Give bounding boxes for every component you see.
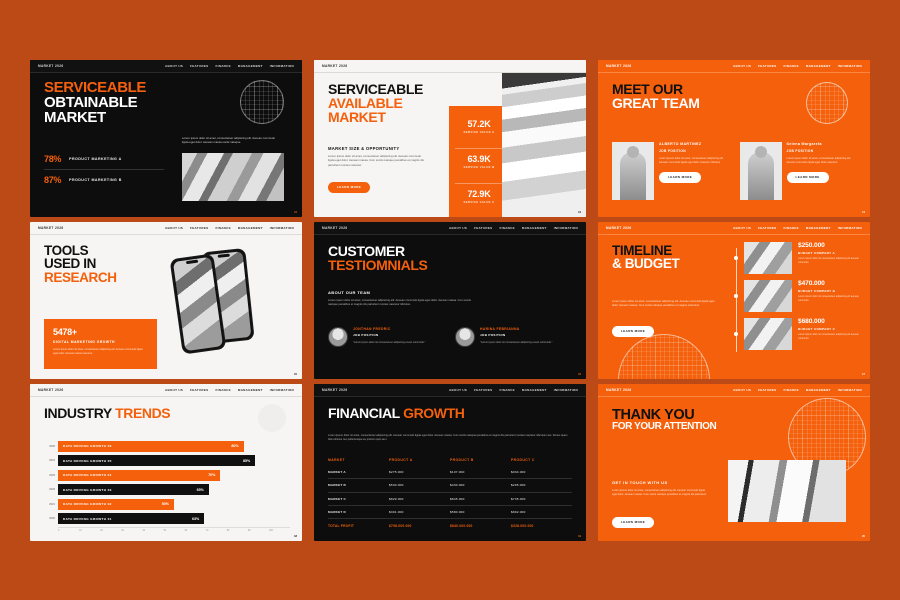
slide-4-title: TOOLS USED IN RESEARCH: [44, 244, 117, 285]
chart-y-label: 2020: [44, 517, 58, 520]
table-cell: $275.000: [389, 470, 450, 474]
budget-desc: Lorem ipsum dolor sit consectetuer adipi…: [798, 295, 864, 303]
table-cell: $430.000: [450, 483, 511, 487]
table-row: MARKET D$301.000$580.000$802.000: [328, 506, 572, 519]
slide-5-subtitle: ABOUT OUR TEAM: [328, 290, 370, 295]
nav-brand: MARKET 2026: [322, 64, 347, 68]
slide-2-navbar: MARKET 2026: [314, 60, 586, 73]
stat-value: 78%: [44, 154, 61, 164]
page-number: 15: [294, 373, 297, 376]
slide-3-title-line1: MEET OUR: [612, 82, 700, 96]
nav-link-features[interactable]: FEATURES: [758, 64, 776, 68]
team-member-card: ALBERTO MARTINEZ JOB POSITION Lorem ipsu…: [612, 142, 733, 200]
slide-7-industry-trends[interactable]: MARKET 2026 ABOUT US FEATURES FINANCE MA…: [30, 384, 302, 541]
globe-icon: [240, 80, 284, 124]
slide-5-title: CUSTOMER TESTIOMNIALS: [328, 244, 427, 273]
nav-link-management[interactable]: MANAGEMENT: [238, 226, 263, 230]
budget-company: BUDGET COMPANY C: [798, 327, 864, 331]
stat-row: 78% PRODUCT MARKETING A: [44, 149, 164, 169]
table-cell: $802.000: [511, 510, 572, 514]
chart-bar-row: 2020DATA DRIVING GROWTH 0163%: [44, 512, 290, 525]
stat-item: 72.9K SERVICE VALUE C: [455, 183, 503, 204]
slide-5-title-line2: TESTIOMNIALS: [328, 258, 427, 272]
table-row: MARKET B$530.000$430.000$205.000: [328, 479, 572, 492]
slide-4-navbar: MARKET 2026 ABOUT US FEATURES FINANCE MA…: [30, 222, 302, 235]
chart-bar-row: 2021DATA DRIVING GROWTH 0250%: [44, 498, 290, 511]
member-job: JOB POSITION: [659, 149, 733, 153]
table-cell: MARKET B: [328, 483, 389, 487]
slide-4-title-line2: USED IN: [44, 257, 117, 271]
page-number: 17: [862, 373, 865, 376]
slide-7-title: INDUSTRY TRENDS: [44, 406, 170, 420]
nav-link-features[interactable]: FEATURES: [190, 64, 208, 68]
stat-label: SERVICE VALUE B: [455, 165, 503, 169]
nav-brand: MARKET 2026: [606, 64, 631, 68]
nav-link-features[interactable]: FEATURES: [758, 226, 776, 230]
chart-bar-value: 85%: [243, 459, 250, 463]
slide-2-title-line1: SERVICEABLE: [328, 82, 423, 96]
slide-2-building-image: [502, 73, 586, 217]
slide-7-title-part2: TRENDS: [115, 405, 170, 421]
slide-6-title: TIMELINE & BUDGET: [612, 244, 679, 272]
nav-link-management[interactable]: MANAGEMENT: [806, 388, 831, 392]
nav-link-information[interactable]: INFORMATION: [838, 226, 862, 230]
nav-link-finance[interactable]: FINANCE: [783, 64, 798, 68]
nav-links: ABOUT US FEATURES FINANCE MANAGEMENT INF…: [165, 64, 294, 68]
page-number: 13: [578, 211, 581, 214]
slide-6-navbar: MARKET 2026 ABOUT US FEATURES FINANCE MA…: [598, 222, 870, 235]
chart-bar-track: DATA DRIVING GROWTH 0585%: [58, 455, 290, 466]
industry-trends-bar-chart: 2026DATA DRIVING GROWTH 0680%2024DATA DR…: [44, 440, 290, 525]
nav-link-finance[interactable]: FINANCE: [499, 388, 514, 392]
nav-link-information[interactable]: INFORMATION: [270, 64, 294, 68]
chart-bar-label: DATA DRIVING GROWTH 03: [63, 488, 112, 492]
nav-link-finance[interactable]: FINANCE: [215, 388, 230, 392]
table-cell: $845.000: [450, 497, 511, 501]
timeline-item: $470.000 BUDGET COMPANY B Lorem ipsum do…: [736, 280, 864, 312]
chart-x-tick: 100: [269, 529, 290, 532]
nav-link-about-us[interactable]: ABOUT US: [165, 226, 183, 230]
chart-x-tick: 80: [227, 529, 248, 532]
slide-3-title: MEET OUR GREAT TEAM: [612, 82, 700, 111]
chart-bar-row: 2024DATA DRIVING GROWTH 0585%: [44, 454, 290, 467]
nav-link-information[interactable]: INFORMATION: [838, 388, 862, 392]
nav-brand: MARKET 2026: [322, 388, 347, 392]
testimonial-card: HARINA FEBRIANNA JOB POSITION "Lorem ips…: [455, 327, 574, 347]
timeline-item: $680.000 BUDGET COMPANY C Lorem ipsum do…: [736, 318, 864, 350]
slide-9-image: [728, 460, 846, 522]
testimonial-card: JONTHAN FREDRIC JOB POSITION "Lorem ipsu…: [328, 327, 447, 347]
slide-8-title-part2: GROWTH: [403, 405, 464, 421]
slide-6-title-line2: & BUDGET: [612, 257, 679, 271]
chart-bar[interactable]: DATA DRIVING GROWTH 0680%: [58, 441, 244, 452]
avatar: [612, 142, 654, 200]
nav-link-management[interactable]: MANAGEMENT: [522, 388, 547, 392]
table-cell: $580.000: [450, 510, 511, 514]
slide-7-title-part1: INDUSTRY: [44, 405, 115, 421]
slide-6-title-line1: TIMELINE: [612, 244, 679, 258]
table-column-header: PRODUCT C: [511, 458, 572, 462]
nav-link-about-us[interactable]: ABOUT US: [733, 226, 751, 230]
nav-link-management[interactable]: MANAGEMENT: [238, 64, 263, 68]
timeline-item: $250.000 BUDGET COMPANY A Lorem ipsum do…: [736, 242, 864, 274]
stat-row: 87% PRODUCT MARKETING B: [44, 169, 164, 190]
slide-1-serviceable-obtainable-market[interactable]: MARKET 2026 ABOUT US FEATURES FINANCE MA…: [30, 60, 302, 217]
avatar: [740, 142, 782, 200]
slide-5-title-line1: CUSTOMER: [328, 244, 427, 258]
phone-notch: [218, 253, 230, 257]
member-name: JONTHAN FREDRIC: [353, 327, 426, 331]
slide-1-paragraph: Lorem ipsum dolor sit amet, consectetuer…: [182, 136, 282, 145]
table-cell: $735.000: [511, 497, 572, 501]
chart-y-label: 2022: [44, 488, 58, 491]
budget-company: BUDGET COMPANY B: [798, 289, 864, 293]
member-name: ALBERTO MARTINEZ: [659, 142, 733, 146]
slide-9-title-line1: THANK YOU: [612, 408, 716, 423]
page-number: 12: [294, 211, 297, 214]
learn-more-button[interactable]: LEARN MORE: [787, 172, 829, 183]
chart-y-label: 2024: [44, 459, 58, 462]
nav-link-information[interactable]: INFORMATION: [554, 388, 578, 392]
chart-bar[interactable]: DATA DRIVING GROWTH 0163%: [58, 513, 204, 524]
stat-value: 72.9K: [455, 189, 503, 199]
chart-bar-label: DATA DRIVING GROWTH 01: [63, 517, 112, 521]
table-cell: $829.000: [389, 497, 450, 501]
metric-label: DIGITAL MARKETING GROWTH: [53, 340, 148, 344]
nav-links: ABOUT US FEATURES FINANCE MANAGEMENT INF…: [165, 226, 294, 230]
chart-bar-value: 65%: [197, 488, 204, 492]
chart-x-tick: 30: [121, 529, 142, 532]
table-total-row: TOTAL PROFIT$798.000.000$840.000.000$328…: [328, 519, 572, 531]
budget-company: BUDGET COMPANY A: [798, 251, 864, 255]
chart-x-axis: 0102030405060708090100: [58, 527, 290, 532]
learn-more-button[interactable]: LEARN MORE: [659, 172, 701, 183]
nav-links: ABOUT US FEATURES FINANCE MANAGEMENT INF…: [449, 388, 578, 392]
nav-brand: MARKET 2026: [322, 226, 347, 230]
page-number: 14: [862, 211, 865, 214]
table-row: MARKET A$275.000$107.000$034.000: [328, 466, 572, 479]
timeline-dot: [734, 294, 738, 298]
table-total-cell: $798.000.000: [389, 524, 450, 528]
stat-item: 57.2K SERVICE VALUE A: [455, 119, 503, 134]
stat-label: PRODUCT MARKETING A: [69, 157, 122, 161]
nav-links: ABOUT US FEATURES FINANCE MANAGEMENT INF…: [449, 226, 578, 230]
nav-link-finance[interactable]: FINANCE: [783, 388, 798, 392]
chart-bar-label: DATA DRIVING GROWTH 05: [63, 459, 112, 463]
nav-brand: MARKET 2026: [38, 388, 63, 392]
nav-link-features[interactable]: FEATURES: [758, 388, 776, 392]
slide-6-timeline-and-budget[interactable]: MARKET 2026 ABOUT US FEATURES FINANCE MA…: [598, 222, 870, 379]
nav-link-information[interactable]: INFORMATION: [838, 64, 862, 68]
nav-link-features[interactable]: FEATURES: [474, 226, 492, 230]
chart-bar[interactable]: DATA DRIVING GROWTH 0250%: [58, 499, 174, 510]
nav-link-finance[interactable]: FINANCE: [499, 226, 514, 230]
stat-value: 57.2K: [455, 119, 503, 129]
table-cell: $205.000: [511, 483, 572, 487]
slide-6-paragraph: Lorem ipsum dolor sit amet, consectetuer…: [612, 300, 716, 309]
member-quote: "Lorem ipsum dolor sit consectetuer adip…: [353, 341, 426, 345]
metric-value: 5478+: [53, 327, 148, 337]
nav-link-about-us[interactable]: ABOUT US: [449, 388, 467, 392]
chart-x-tick: 40: [142, 529, 163, 532]
slide-5-customer-testimonials[interactable]: MARKET 2026 ABOUT US FEATURES FINANCE MA…: [314, 222, 586, 379]
slide-1-navbar: MARKET 2026 ABOUT US FEATURES FINANCE MA…: [30, 60, 302, 73]
chart-bar[interactable]: DATA DRIVING GROWTH 0470%: [58, 470, 220, 481]
budget-desc: Lorem ipsum dolor sit consectetuer adipi…: [798, 333, 864, 341]
member-job: JOB POSITION: [353, 333, 426, 337]
slide-9-navbar: MARKET 2026 ABOUT US FEATURES FINANCE MA…: [598, 384, 870, 397]
slide-8-navbar: MARKET 2026 ABOUT US FEATURES FINANCE MA…: [314, 384, 586, 397]
page-number: 16: [578, 373, 581, 376]
nav-link-management[interactable]: MANAGEMENT: [522, 226, 547, 230]
slide-grid: MARKET 2026 ABOUT US FEATURES FINANCE MA…: [0, 0, 900, 600]
nav-links: ABOUT US FEATURES FINANCE MANAGEMENT INF…: [733, 226, 862, 230]
nav-brand: MARKET 2026: [606, 388, 631, 392]
chart-y-label: 2026: [44, 445, 58, 448]
chart-x-tick: 70: [206, 529, 227, 532]
slide-2-stats-panel: 57.2K SERVICE VALUE A 63.9K SERVICE VALU…: [449, 106, 509, 217]
chart-bar-track: DATA DRIVING GROWTH 0365%: [58, 484, 290, 495]
chart-bar[interactable]: DATA DRIVING GROWTH 0585%: [58, 455, 255, 466]
member-desc: Lorem ipsum dolor sit amet, consectetuer…: [659, 157, 733, 166]
slide-8-financial-growth[interactable]: MARKET 2026 ABOUT US FEATURES FINANCE MA…: [314, 384, 586, 541]
stat-value: 63.9K: [455, 154, 503, 164]
avatar: [328, 327, 348, 347]
timeline-image: [744, 242, 792, 274]
slide-3-navbar: MARKET 2026 ABOUT US FEATURES FINANCE MA…: [598, 60, 870, 73]
member-desc: Lorem ipsum dolor sit amet, consectetuer…: [787, 157, 861, 166]
budget-amount: $470.000: [798, 280, 864, 287]
slide-9-paragraph: Lorem ipsum dolor sit amet, consectetuer…: [612, 489, 710, 498]
slide-9-subtitle: GET IN TOUCH WITH US: [612, 480, 668, 485]
nav-link-information[interactable]: INFORMATION: [270, 226, 294, 230]
slide-2-title-line3: MARKET: [328, 110, 423, 124]
slide-1-image: [182, 153, 284, 201]
table-cell: $301.000: [389, 510, 450, 514]
member-job: JOB POSITION: [480, 333, 553, 337]
slide-1-stats: 78% PRODUCT MARKETING A 87% PRODUCT MARK…: [44, 149, 164, 190]
slide-4-metric-box: 5478+ DIGITAL MARKETING GROWTH Lorem ips…: [44, 319, 157, 369]
slide-1-title-line2: OBTAINABLE: [44, 95, 146, 110]
timeline-image: [744, 280, 792, 312]
budget-amount: $680.000: [798, 318, 864, 325]
chart-bar-label: DATA DRIVING GROWTH 02: [63, 502, 112, 506]
table-cell: $107.000: [450, 470, 511, 474]
nav-link-management[interactable]: MANAGEMENT: [238, 388, 263, 392]
chart-x-tick: 0: [58, 529, 79, 532]
chart-bar[interactable]: DATA DRIVING GROWTH 0365%: [58, 484, 209, 495]
chart-bar-row: 2023DATA DRIVING GROWTH 0470%: [44, 469, 290, 482]
slide-9-title-line2: FOR YOUR ATTENTION: [612, 422, 716, 432]
table-row: MARKET C$829.000$845.000$735.000: [328, 493, 572, 506]
table-column-header: MARKET: [328, 458, 389, 462]
stat-item: 63.9K SERVICE VALUE B: [455, 148, 503, 169]
slide-9-title: THANK YOU FOR YOUR ATTENTION: [612, 408, 716, 433]
table-cell: MARKET D: [328, 510, 389, 514]
nav-brand: MARKET 2026: [38, 226, 63, 230]
chart-bar-value: 80%: [231, 444, 238, 448]
table-total-cell: $328.000.000: [511, 524, 572, 528]
slide-1-title-line3: MARKET: [44, 110, 146, 125]
chart-x-tick: 20: [100, 529, 121, 532]
timeline-dot: [734, 256, 738, 260]
chart-bars: 2026DATA DRIVING GROWTH 0680%2024DATA DR…: [44, 440, 290, 526]
slide-7-navbar: MARKET 2026 ABOUT US FEATURES FINANCE MA…: [30, 384, 302, 397]
slide-8-title-part1: FINANCIAL: [328, 405, 403, 421]
chart-x-tick: 90: [248, 529, 269, 532]
chart-y-label: 2021: [44, 503, 58, 506]
chart-bar-label: DATA DRIVING GROWTH 04: [63, 473, 112, 477]
slide-2-serviceable-available-market[interactable]: MARKET 2026 SERVICEABLE AVAILABLE MARKET…: [314, 60, 586, 217]
slide-3-title-line2: GREAT TEAM: [612, 96, 700, 110]
budget-amount: $250.000: [798, 242, 864, 249]
nav-link-finance[interactable]: FINANCE: [783, 226, 798, 230]
nav-link-about-us[interactable]: ABOUT US: [733, 64, 751, 68]
member-name: HARINA FEBRIANNA: [480, 327, 553, 331]
slide-8-paragraph: Lorem ipsum dolor sit amet, consectetuer…: [328, 434, 572, 443]
timeline-dot: [734, 332, 738, 336]
chart-bar-row: 2026DATA DRIVING GROWTH 0680%: [44, 440, 290, 453]
learn-more-button[interactable]: LEARN MORE: [612, 517, 654, 528]
nav-link-management[interactable]: MANAGEMENT: [806, 64, 831, 68]
chart-bar-track: DATA DRIVING GROWTH 0163%: [58, 513, 290, 524]
chart-x-tick: 50: [163, 529, 184, 532]
nav-brand: MARKET 2026: [606, 226, 631, 230]
team-member-card: Selena Margareta JOB POSITION Lorem ipsu…: [740, 142, 861, 200]
table-cell: MARKET C: [328, 497, 389, 501]
slide-5-paragraph: Lorem ipsum dolor sit amet, consectetuer…: [328, 299, 478, 308]
member-name: Selena Margareta: [787, 142, 861, 146]
chart-bar-value: 70%: [208, 473, 215, 477]
budget-desc: Lorem ipsum dolor sit consectetuer adipi…: [798, 257, 864, 265]
slide-4-title-line1: TOOLS: [44, 244, 117, 258]
nav-link-features[interactable]: FEATURES: [190, 226, 208, 230]
slide-2-subtitle: MARKET SIZE & OPPORTUNITY: [328, 146, 399, 151]
slide-4-tools-used-in-research[interactable]: MARKET 2026 ABOUT US FEATURES FINANCE MA…: [30, 222, 302, 379]
slide-5-testimonial-list: JONTHAN FREDRIC JOB POSITION "Lorem ipsu…: [328, 327, 574, 347]
nav-link-finance[interactable]: FINANCE: [215, 64, 230, 68]
slide-3-meet-our-great-team[interactable]: MARKET 2026 ABOUT US FEATURES FINANCE MA…: [598, 60, 870, 217]
slide-8-title: FINANCIAL GROWTH: [328, 406, 464, 420]
table-column-header: PRODUCT B: [450, 458, 511, 462]
slide-5-navbar: MARKET 2026 ABOUT US FEATURES FINANCE MA…: [314, 222, 586, 235]
chart-bar-row: 2022DATA DRIVING GROWTH 0365%: [44, 483, 290, 496]
page-number: 20: [862, 535, 865, 538]
member-quote: "Lorem ipsum dolor sit consectetuer adip…: [480, 341, 553, 345]
slide-2-title: SERVICEABLE AVAILABLE MARKET: [328, 82, 423, 125]
nav-links: ABOUT US FEATURES FINANCE MANAGEMENT INF…: [733, 388, 862, 392]
nav-link-about-us[interactable]: ABOUT US: [449, 226, 467, 230]
nav-link-about-us[interactable]: ABOUT US: [165, 388, 183, 392]
table-total-cell: TOTAL PROFIT: [328, 524, 389, 528]
stat-label: SERVICE VALUE A: [455, 130, 503, 134]
table-cell: MARKET A: [328, 470, 389, 474]
nav-brand: MARKET 2026: [38, 64, 63, 68]
globe-icon: [806, 82, 848, 124]
slide-4-title-line3: RESEARCH: [44, 271, 117, 285]
chart-bar-track: DATA DRIVING GROWTH 0680%: [58, 441, 290, 452]
nav-link-information[interactable]: INFORMATION: [554, 226, 578, 230]
page-number: 19: [578, 535, 581, 538]
chart-y-label: 2023: [44, 474, 58, 477]
chart-bar-track: DATA DRIVING GROWTH 0250%: [58, 499, 290, 510]
learn-more-button[interactable]: LEARN MORE: [612, 326, 654, 337]
slide-6-timeline: $250.000 BUDGET COMPANY A Lorem ipsum do…: [736, 242, 864, 356]
chart-x-tick: 10: [79, 529, 100, 532]
chart-bar-label: DATA DRIVING GROWTH 06: [63, 444, 112, 448]
slide-1-title-line1: SERVICEABLE: [44, 80, 146, 95]
nav-links: ABOUT US FEATURES FINANCE MANAGEMENT INF…: [165, 388, 294, 392]
slide-3-team-list: ALBERTO MARTINEZ JOB POSITION Lorem ipsu…: [612, 142, 860, 200]
table-total-cell: $840.000.000: [450, 524, 511, 528]
page-number: 18: [294, 535, 297, 538]
nav-links: ABOUT US FEATURES FINANCE MANAGEMENT INF…: [733, 64, 862, 68]
table-cell: $034.000: [511, 470, 572, 474]
globe-icon: [618, 334, 710, 379]
chart-bar-value: 63%: [192, 517, 199, 521]
table-header-row: MARKETPRODUCT APRODUCT BPRODUCT C: [328, 454, 572, 466]
chart-x-tick: 60: [185, 529, 206, 532]
nav-link-about-us[interactable]: ABOUT US: [165, 64, 183, 68]
nav-link-finance[interactable]: FINANCE: [215, 226, 230, 230]
stat-label: SERVICE VALUE C: [455, 200, 503, 204]
slide-2-title-line2: AVAILABLE: [328, 96, 423, 110]
learn-more-button[interactable]: LEARN MORE: [328, 182, 370, 193]
nav-link-about-us[interactable]: ABOUT US: [733, 388, 751, 392]
nav-link-features[interactable]: FEATURES: [474, 388, 492, 392]
stat-label: PRODUCT MARKETING B: [69, 178, 122, 182]
nav-link-information[interactable]: INFORMATION: [270, 388, 294, 392]
slide-1-title: SERVICEABLE OBTAINABLE MARKET: [44, 80, 146, 126]
avatar: [455, 327, 475, 347]
financial-growth-table: MARKETPRODUCT APRODUCT BPRODUCT CMARKET …: [328, 454, 572, 532]
stat-value: 87%: [44, 175, 61, 185]
nav-link-features[interactable]: FEATURES: [190, 388, 208, 392]
slide-9-thank-you[interactable]: MARKET 2026 ABOUT US FEATURES FINANCE MA…: [598, 384, 870, 541]
chart-bar-value: 50%: [162, 502, 169, 506]
chart-bar-track: DATA DRIVING GROWTH 0470%: [58, 470, 290, 481]
timeline-image: [744, 318, 792, 350]
metric-paragraph: Lorem ipsum dolor sit amet, consectetuer…: [53, 348, 148, 356]
table-cell: $530.000: [389, 483, 450, 487]
slide-2-paragraph: Lorem ipsum dolor sit amet, consectetuer…: [328, 154, 428, 168]
member-job: JOB POSITION: [787, 149, 861, 153]
nav-link-management[interactable]: MANAGEMENT: [806, 226, 831, 230]
table-column-header: PRODUCT A: [389, 458, 450, 462]
decorative-badge: [258, 404, 286, 432]
